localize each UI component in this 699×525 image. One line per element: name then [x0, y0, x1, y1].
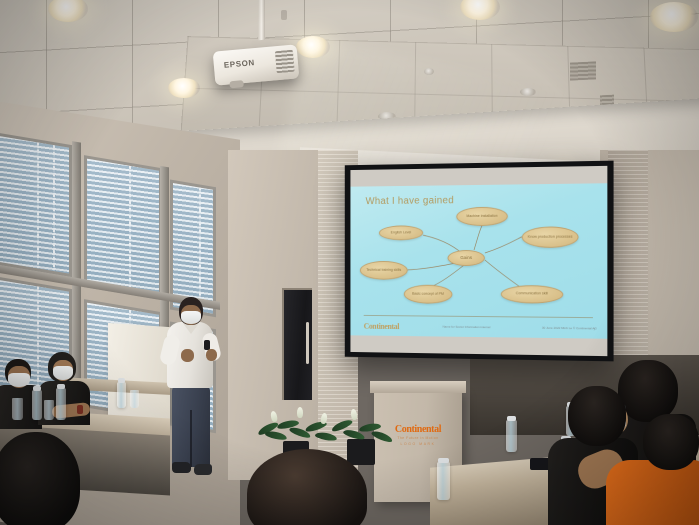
flipchart-whiteboard: [108, 323, 170, 423]
plant-pot: [347, 439, 375, 465]
door-handle-icon[interactable]: [306, 322, 309, 364]
plant-flower: [270, 410, 278, 422]
projector-brand-label: EPSON: [224, 58, 256, 70]
mindmap-node: Know production processes: [522, 226, 579, 248]
attendee-orange-shirt: [606, 460, 699, 525]
ceiling-air-grille: [570, 61, 596, 80]
presentation-slide: What I have gained Machine installation …: [350, 183, 607, 339]
slide-footer-meta-left: Name for Sector Information internal: [443, 326, 491, 330]
plant-flower: [297, 407, 303, 418]
mindmap-node: Communication skill: [501, 285, 563, 304]
blind-cord-icon[interactable]: [37, 286, 39, 392]
blind-cord-icon[interactable]: [37, 142, 39, 268]
ceiling-light: [650, 2, 698, 32]
presenter-shoe-right: [194, 464, 212, 475]
sprinkler-icon: [281, 10, 287, 20]
water-bottle[interactable]: [437, 462, 450, 500]
water-bottle[interactable]: [117, 382, 126, 408]
presenter-hand-right: [206, 349, 217, 361]
slide-footer-meta-right: 30 June 2022 Minh Le © Continental AG: [542, 327, 597, 332]
bottle-cap-icon: [507, 416, 516, 421]
mindmap-node: Basic concept of PM: [404, 285, 453, 304]
plant-leaf: [315, 431, 338, 442]
ceiling-light: [168, 78, 200, 98]
mindmap-node: English Level: [379, 225, 423, 240]
drinking-glass[interactable]: [12, 398, 23, 420]
bottle-cap-icon: [118, 378, 125, 383]
wristwatch-icon: [77, 405, 83, 414]
service-door[interactable]: [282, 288, 312, 400]
projector-lens-icon: [229, 80, 244, 88]
plant-flower: [350, 409, 357, 421]
blind-cord-icon[interactable]: [199, 187, 201, 311]
attendee-foreground-left: [0, 432, 80, 525]
epson-projector: EPSON: [213, 44, 300, 85]
projector-mount-pole: [258, 0, 265, 44]
window-pane: [84, 155, 162, 300]
window-pane: [0, 131, 72, 277]
water-bottle[interactable]: [56, 388, 66, 420]
slide-page-number: 7: [593, 327, 595, 331]
drinking-glass[interactable]: [44, 400, 54, 420]
window-blinds[interactable]: [0, 135, 69, 274]
drinking-glass[interactable]: [130, 390, 139, 408]
ceiling-light: [296, 36, 330, 58]
attendee-face-mask: [53, 366, 73, 380]
attendee-head: [643, 414, 699, 470]
presenter-hand-left: [181, 349, 194, 362]
bottle-cap-icon: [33, 386, 41, 391]
water-bottle[interactable]: [506, 420, 517, 452]
presenter-leg-split: [190, 410, 192, 467]
blind-cord-icon[interactable]: [129, 166, 131, 292]
blind-cord-icon[interactable]: [53, 145, 55, 271]
window-blinds[interactable]: [87, 159, 159, 297]
conference-room-photo: EPSON: [0, 0, 699, 525]
slide-continental-logo: Continental: [364, 322, 399, 331]
bottle-cap-icon: [57, 384, 65, 389]
screen-surface: What I have gained Machine installation …: [350, 166, 607, 356]
attendee-head: [568, 386, 626, 446]
mindmap-node: Technical training skills: [360, 261, 408, 280]
bottle-cap-icon: [438, 458, 449, 463]
presenter-face-mask: [181, 311, 201, 324]
projection-screen: What I have gained Machine installation …: [345, 161, 614, 362]
water-bottle[interactable]: [32, 390, 42, 420]
ceiling-vent-icon: [424, 68, 434, 75]
presenter-shoe-left: [172, 462, 191, 473]
plant-leaf: [265, 430, 288, 441]
mindmap-node-center: Gains: [448, 250, 485, 266]
indoor-plants: [255, 405, 405, 455]
projector-vent-icon: [275, 50, 295, 73]
podium-top-surface: [370, 381, 466, 393]
ceiling-vent-icon: [520, 88, 536, 96]
plant-flower: [320, 413, 328, 425]
attendee-face-mask: [8, 373, 30, 387]
